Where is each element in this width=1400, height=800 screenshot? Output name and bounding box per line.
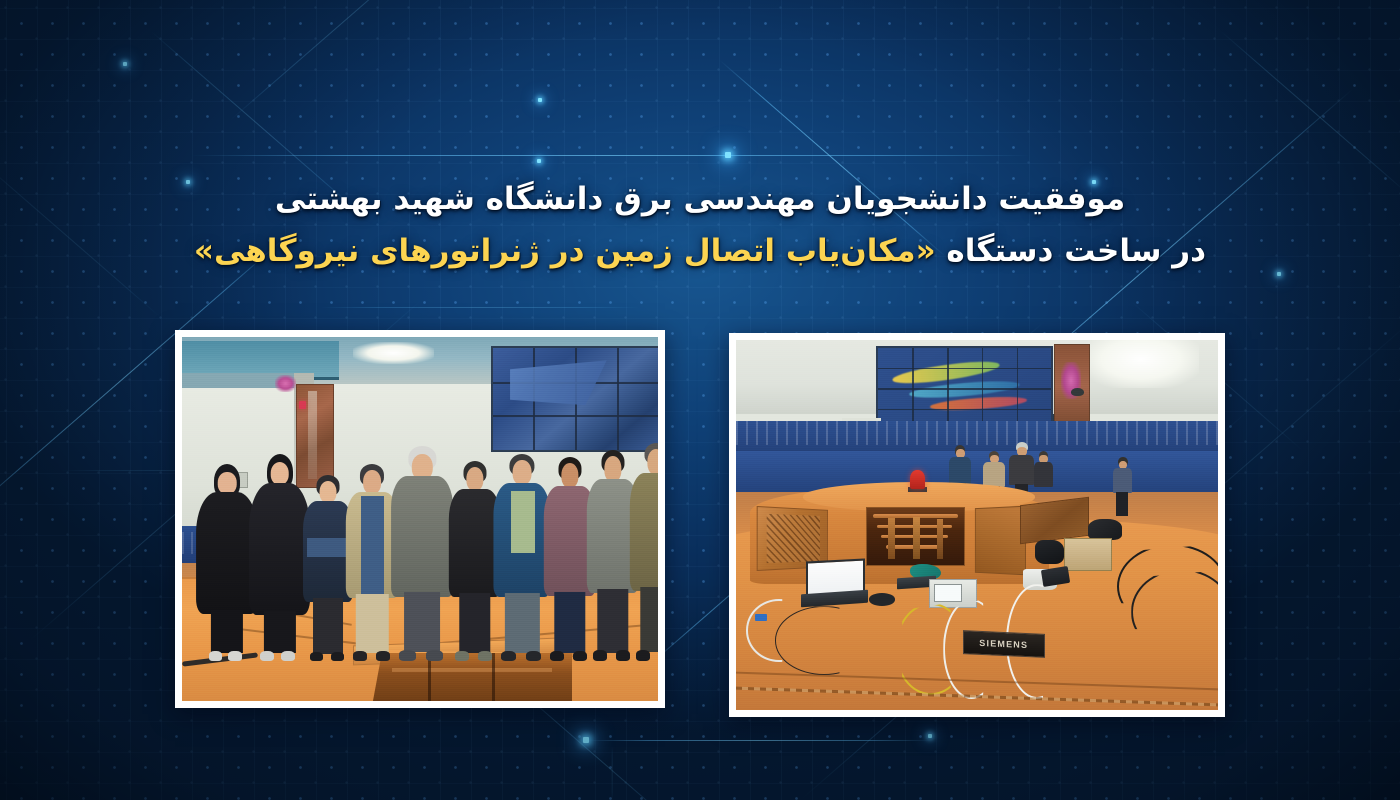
person [391,446,453,661]
security-camera-icon [1071,388,1084,396]
person [629,443,658,661]
person [494,454,551,661]
photo-group-on-generator[interactable] [175,330,665,708]
siemens-nameplate: SIEMENS [963,630,1045,658]
mouse-pad [869,593,896,606]
tablet-device [1041,566,1070,587]
cardboard-box [1064,538,1112,571]
hall-window-mural [876,346,1054,431]
photo-right-content: SIEMENS [736,340,1218,710]
hall-window-left-photo [491,346,658,452]
photo-generator-test-setup[interactable]: SIEMENS [729,333,1225,717]
photo-left-content [182,337,658,701]
warning-beacon-light [910,470,925,489]
nameplate-text: SIEMENS [979,638,1028,650]
access-door-right [975,505,1026,574]
person [249,454,311,661]
banner-root: موفقیت دانشجویان مهندسی برق دانشگاه شهید… [0,0,1400,800]
person [1112,457,1134,516]
test-instrument-display [934,584,963,602]
person [1032,451,1054,495]
generator-open-access-port [866,507,964,566]
